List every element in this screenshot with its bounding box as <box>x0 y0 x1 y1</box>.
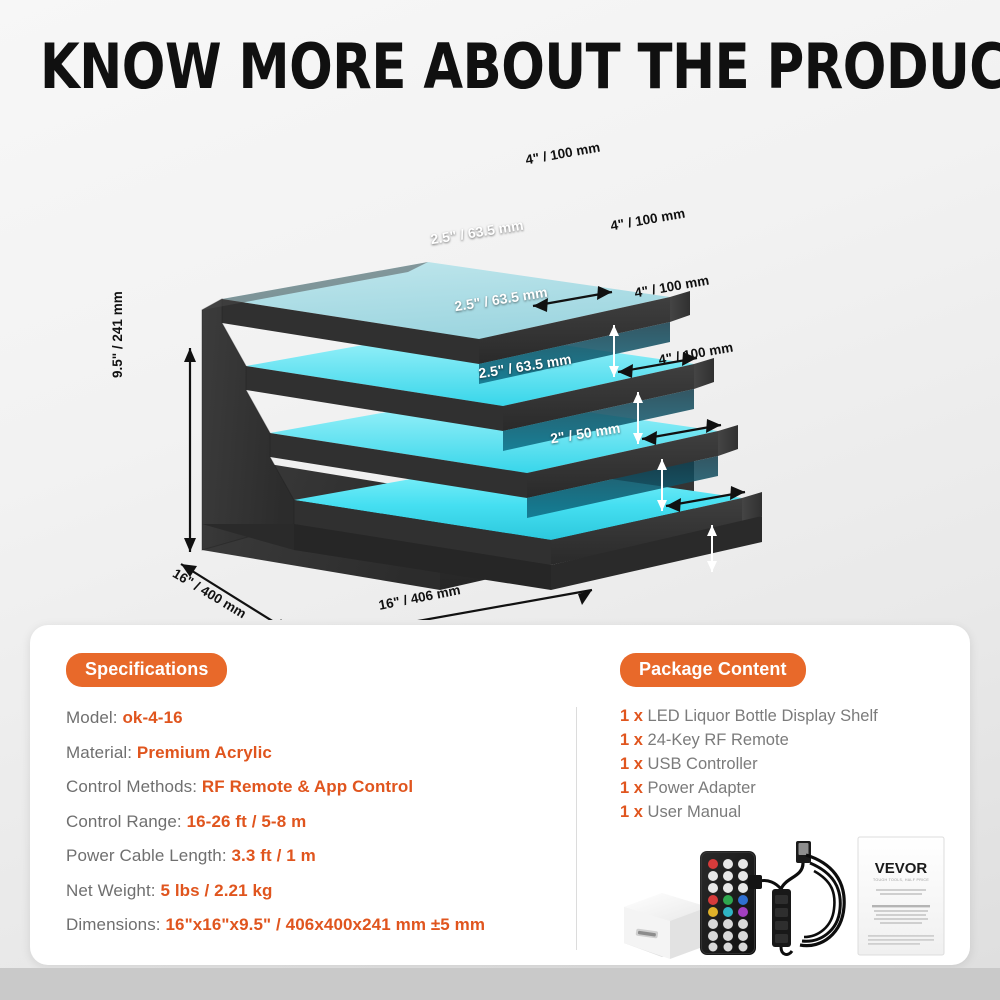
item-qty: 1 x <box>620 779 643 797</box>
list-item: 1 x LED Liquor Bottle Display Shelf <box>620 707 950 726</box>
spec-row: Net Weight: 5 lbs / 2.21 kg <box>66 881 576 901</box>
specifications-badge: Specifications <box>66 653 227 687</box>
item-name: 24-Key RF Remote <box>648 731 789 749</box>
spec-label: Control Methods: <box>66 777 197 796</box>
accessory-images: VEVOR TOUGH TOOLS, HALF PRICE <box>600 833 968 961</box>
dim-total-height: 9.5" / 241 mm <box>110 291 125 378</box>
product-illustration: 4" / 100 mm 4" / 100 mm 4" / 100 mm 4" /… <box>0 120 1000 620</box>
list-item: 1 x User Manual <box>620 803 950 822</box>
package-content-panel: Package Content 1 x LED Liquor Bottle Di… <box>620 653 950 827</box>
item-name: USB Controller <box>648 755 758 773</box>
package-content-badge: Package Content <box>620 653 806 687</box>
item-qty: 1 x <box>620 803 643 821</box>
usb-controller-image <box>748 841 844 954</box>
spec-label: Control Range: <box>66 812 182 831</box>
list-item: 1 x 24-Key RF Remote <box>620 731 950 750</box>
spec-label: Net Weight: <box>66 881 156 900</box>
spec-label: Material: <box>66 743 132 762</box>
bottom-strip <box>0 968 1000 1000</box>
spec-row: Power Cable Length: 3.3 ft / 1 m <box>66 846 576 866</box>
manual-tagline: TOUGH TOOLS, HALF PRICE <box>873 878 929 882</box>
spec-label: Model: <box>66 708 118 727</box>
page-title: KNOW MORE ABOUT THE PRODUCT <box>40 30 960 103</box>
list-item: 1 x USB Controller <box>620 755 950 774</box>
spec-value: 3.3 ft / 1 m <box>232 846 316 865</box>
item-qty: 1 x <box>620 755 643 773</box>
spec-label: Power Cable Length: <box>66 846 227 865</box>
specifications-panel: Specifications Model: ok-4-16 Material: … <box>66 653 576 950</box>
item-name: User Manual <box>648 803 742 821</box>
spec-row: Model: ok-4-16 <box>66 708 576 728</box>
manual-brand: VEVOR <box>875 860 928 877</box>
spec-value: 16-26 ft / 5-8 m <box>187 812 307 831</box>
spec-row: Control Methods: RF Remote & App Control <box>66 777 576 797</box>
spec-value: 5 lbs / 2.21 kg <box>160 881 272 900</box>
spec-value: ok-4-16 <box>122 708 182 727</box>
list-item: 1 x Power Adapter <box>620 779 950 798</box>
spec-value: RF Remote & App Control <box>202 777 413 796</box>
item-qty: 1 x <box>620 707 643 725</box>
specifications-list: Model: ok-4-16 Material: Premium Acrylic… <box>66 708 576 935</box>
panel-divider <box>576 707 577 950</box>
spec-value: 16"x16"x9.5" / 406x400x241 mm ±5 mm <box>165 915 485 934</box>
spec-row: Control Range: 16-26 ft / 5-8 m <box>66 812 576 832</box>
spec-value: Premium Acrylic <box>137 743 272 762</box>
power-adapter-image <box>624 893 708 959</box>
spec-row: Dimensions: 16"x16"x9.5" / 406x400x241 m… <box>66 915 576 935</box>
spec-row: Material: Premium Acrylic <box>66 743 576 763</box>
spec-label: Dimensions: <box>66 915 161 934</box>
item-qty: 1 x <box>620 731 643 749</box>
item-name: LED Liquor Bottle Display Shelf <box>648 707 878 725</box>
item-name: Power Adapter <box>648 779 756 797</box>
rf-remote-image <box>700 851 756 955</box>
package-items-list: 1 x LED Liquor Bottle Display Shelf 1 x … <box>620 707 950 822</box>
user-manual-image: VEVOR TOUGH TOOLS, HALF PRICE <box>858 837 944 955</box>
